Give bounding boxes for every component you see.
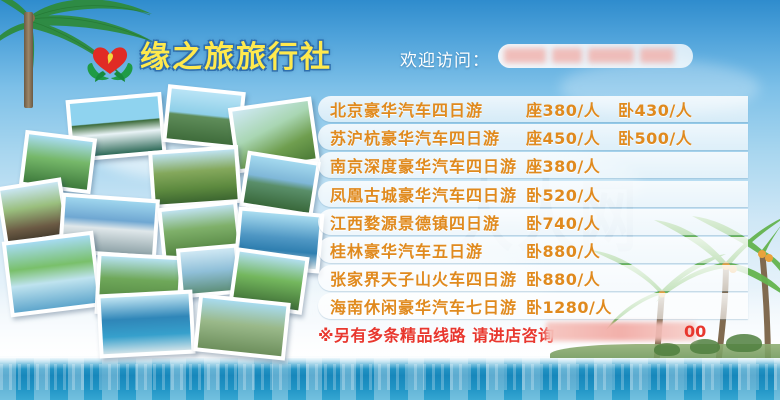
price-sleeper-cell: 卧430/人 (618, 97, 728, 121)
ocean-blur-left (0, 358, 440, 400)
collage-photo (2, 231, 103, 318)
price-seat-cell: 卧740/人 (526, 210, 618, 234)
welcome-label: 欢迎访问： (400, 46, 490, 71)
price-seat-cell: 卧880/人 (526, 266, 618, 290)
ocean-blur-right (450, 358, 780, 400)
table-row[interactable]: 苏沪杭豪华汽车四日游 座450/人 卧500/人 (318, 124, 748, 150)
route-name-cell: 北京豪华汽车四日游 (318, 97, 526, 121)
table-row[interactable]: 凤凰古城豪华汽车四日游 卧520/人 (318, 181, 748, 207)
table-row[interactable]: 北京豪华汽车四日游 座380/人 卧430/人 (318, 96, 748, 122)
heart-in-hands-logo-icon (86, 33, 134, 83)
welcome-value-redacted (498, 44, 693, 68)
photo-collage (0, 86, 320, 361)
table-row[interactable]: 海南休闲豪华汽车七日游 卧1280/人 (318, 293, 748, 319)
price-seat-cell: 座450/人 (526, 125, 618, 149)
price-seat-cell: 卧520/人 (526, 182, 618, 206)
footer-note: ※另有多条精品线路 请进店咨询 (318, 322, 555, 346)
collage-photo (96, 290, 195, 359)
collage-photo (148, 145, 242, 209)
route-name-cell: 江西婺源景德镇四日游 (318, 210, 526, 234)
price-seat-cell: 卧1280/人 (526, 294, 618, 318)
price-list: 北京豪华汽车四日游 座380/人 卧430/人 苏沪杭豪华汽车四日游 座450/… (318, 96, 748, 322)
route-name-cell: 桂林豪华汽车五日游 (318, 238, 526, 262)
route-name-cell: 凤凰古城豪华汽车四日游 (318, 182, 526, 206)
ocean-strip (0, 358, 780, 400)
shore-tree (654, 343, 680, 356)
route-name-cell: 苏沪杭豪华汽车四日游 (318, 125, 526, 149)
footer-note-tail: 00 (684, 322, 706, 341)
travel-agency-poster: 缘之旅旅行社 欢迎访问： 人人网 北京豪华汽车四日游 座380/人 卧430/人 (0, 0, 780, 400)
shore-tree (690, 339, 720, 354)
shore-tree (726, 334, 762, 352)
price-sleeper-cell: 卧500/人 (618, 125, 728, 149)
table-row[interactable]: 江西婺源景德镇四日游 卧740/人 (318, 209, 748, 235)
route-name-cell: 张家界天子山火车四日游 (318, 266, 526, 290)
brand-title: 缘之旅旅行社 (140, 36, 332, 80)
table-row[interactable]: 张家界天子山火车四日游 卧880/人 (318, 265, 748, 291)
collage-photo (193, 293, 291, 360)
route-name-cell: 海南休闲豪华汽车七日游 (318, 294, 526, 318)
price-seat-cell: 座380/人 (526, 97, 618, 121)
table-row[interactable]: 南京深度豪华汽车四日游 座380/人 (318, 152, 748, 178)
logo-svg (86, 33, 134, 83)
price-seat-cell: 座380/人 (526, 153, 618, 177)
route-name-cell: 南京深度豪华汽车四日游 (318, 153, 526, 177)
footer-phone-redacted (546, 322, 696, 341)
price-seat-cell: 卧880/人 (526, 238, 618, 262)
table-row[interactable]: 桂林豪华汽车五日游 卧880/人 (318, 237, 748, 263)
